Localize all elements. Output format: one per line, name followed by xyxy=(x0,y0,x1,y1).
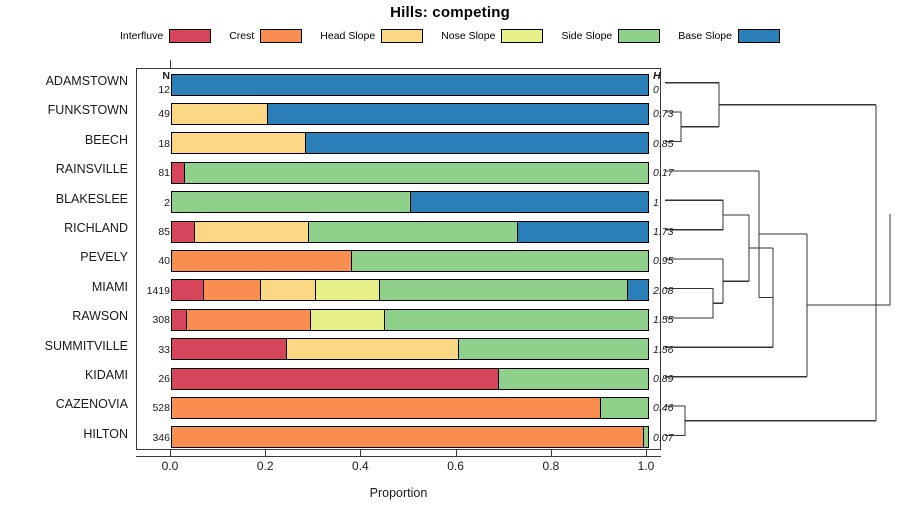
stacked-bar[interactable] xyxy=(171,221,649,243)
bar-segment[interactable] xyxy=(194,222,307,242)
x-axis-tick-label: 0.8 xyxy=(531,459,571,473)
row-n-value: 49 xyxy=(137,108,170,120)
stacked-bar[interactable] xyxy=(171,191,649,213)
bar-segment[interactable] xyxy=(410,192,648,212)
x-axis-line xyxy=(136,456,661,457)
bar-segment[interactable] xyxy=(172,427,643,447)
stacked-bar[interactable] xyxy=(171,309,649,331)
legend-label: Side Slope xyxy=(561,30,612,42)
bar-segment[interactable] xyxy=(172,104,267,124)
x-axis-tick-label: 0.2 xyxy=(245,459,285,473)
bar-segment[interactable] xyxy=(267,104,648,124)
x-axis-tick-label: 0.6 xyxy=(436,459,476,473)
legend-swatch xyxy=(169,29,211,43)
y-axis-label: BEECH xyxy=(0,133,128,147)
plot-panel: 12NH0490.73180.85810.1721851.73400.95141… xyxy=(136,68,661,450)
bar-rows: 12NH0490.73180.85810.1721851.73400.95141… xyxy=(137,69,660,449)
dendrogram-svg xyxy=(661,68,900,450)
y-axis-label: RAWSON xyxy=(0,309,128,323)
legend-swatch xyxy=(738,29,780,43)
x-axis-tick xyxy=(646,450,647,457)
bar-row: 12NH0 xyxy=(137,69,660,98)
bar-segment[interactable] xyxy=(305,133,648,153)
bar-segment[interactable] xyxy=(308,222,517,242)
bar-segment[interactable] xyxy=(310,310,384,330)
bar-segment[interactable] xyxy=(172,133,305,153)
y-axis-labels: ADAMSTOWNFUNKSTOWNBEECHRAINSVILLEBLAKESL… xyxy=(0,68,132,450)
y-axis-label: SUMMITVILLE xyxy=(0,339,128,353)
stacked-bar[interactable] xyxy=(171,132,649,154)
y-axis-label: PEVELY xyxy=(0,250,128,264)
row-n-value: 26 xyxy=(137,373,170,385)
y-axis-label: RAINSVILLE xyxy=(0,162,128,176)
row-n-value: 528 xyxy=(137,402,170,414)
bar-segment[interactable] xyxy=(172,369,498,389)
legend-label: Base Slope xyxy=(678,30,732,42)
legend: InterfluveCrestHead SlopeNose SlopeSide … xyxy=(0,26,900,46)
legend-label: Interfluve xyxy=(120,30,163,42)
stacked-bar[interactable] xyxy=(171,162,649,184)
bar-row: 260.89 xyxy=(137,363,660,392)
x-axis-tick xyxy=(360,450,361,457)
stacked-bar[interactable] xyxy=(171,74,649,96)
x-axis-title: Proportion xyxy=(136,486,661,500)
bar-segment[interactable] xyxy=(498,369,648,389)
bar-segment[interactable] xyxy=(351,251,649,271)
bar-segment[interactable] xyxy=(172,222,194,242)
legend-item: Crest xyxy=(229,29,302,43)
legend-item: Head Slope xyxy=(320,29,423,43)
row-n-value: 308 xyxy=(137,314,170,326)
y-axis-label: BLAKESLEE xyxy=(0,192,128,206)
bar-segment[interactable] xyxy=(186,310,310,330)
x-axis-tick xyxy=(170,450,171,457)
bar-segment[interactable] xyxy=(627,280,648,300)
bar-segment[interactable] xyxy=(517,222,648,242)
stacked-bar[interactable] xyxy=(171,103,649,125)
legend-item: Interfluve xyxy=(120,29,211,43)
row-n-value: 346 xyxy=(137,432,170,444)
legend-item: Nose Slope xyxy=(441,29,543,43)
bar-segment[interactable] xyxy=(286,339,457,359)
bar-segment[interactable] xyxy=(172,163,184,183)
bar-segment[interactable] xyxy=(384,310,648,330)
row-n-value: 81 xyxy=(137,167,170,179)
bar-row: 810.17 xyxy=(137,157,660,186)
legend-swatch xyxy=(618,29,660,43)
legend-item: Base Slope xyxy=(678,29,780,43)
chart-root: Hills: competing InterfluveCrestHead Slo… xyxy=(0,0,900,520)
legend-label: Crest xyxy=(229,30,254,42)
bar-row: 331.56 xyxy=(137,334,660,363)
bar-row: 3460.07 xyxy=(137,422,660,451)
stacked-bar[interactable] xyxy=(171,368,649,390)
bar-segment[interactable] xyxy=(172,280,203,300)
bar-segment[interactable] xyxy=(172,310,186,330)
y-axis-label: FUNKSTOWN xyxy=(0,103,128,117)
x-axis-tick xyxy=(265,450,266,457)
row-n-value: 33 xyxy=(137,344,170,356)
stacked-bar[interactable] xyxy=(171,426,649,448)
legend-swatch xyxy=(381,29,423,43)
bar-segment[interactable] xyxy=(203,280,260,300)
stacked-bar[interactable] xyxy=(171,250,649,272)
bar-row: 400.95 xyxy=(137,245,660,274)
chart-title: Hills: competing xyxy=(0,4,900,21)
row-n-value: 12 xyxy=(137,84,170,96)
bar-segment[interactable] xyxy=(172,192,410,212)
stacked-bar[interactable] xyxy=(171,279,649,301)
row-n-value: 85 xyxy=(137,226,170,238)
y-axis-label: CAZENOVIA xyxy=(0,397,128,411)
bar-segment[interactable] xyxy=(172,75,648,95)
bar-segment[interactable] xyxy=(643,427,648,447)
legend-swatch xyxy=(260,29,302,43)
bar-row: 180.85 xyxy=(137,128,660,157)
row-n-value: 40 xyxy=(137,255,170,267)
bar-row: 851.73 xyxy=(137,216,660,245)
stacked-bar[interactable] xyxy=(171,338,649,360)
y-axis-label: MIAMI xyxy=(0,280,128,294)
dendrogram xyxy=(661,68,900,450)
x-axis-tick xyxy=(456,450,457,457)
x-axis-tick-label: 0.4 xyxy=(340,459,380,473)
y-axis-label: KIDAMI xyxy=(0,368,128,382)
bar-row: 5280.46 xyxy=(137,392,660,421)
legend-label: Head Slope xyxy=(320,30,375,42)
bar-row: 490.73 xyxy=(137,98,660,127)
row-n-value: 18 xyxy=(137,138,170,150)
bar-row: 14192.08 xyxy=(137,275,660,304)
x-axis-tick xyxy=(551,450,552,457)
bar-segment[interactable] xyxy=(172,339,286,359)
bar-segment[interactable] xyxy=(260,280,315,300)
legend-label: Nose Slope xyxy=(441,30,495,42)
bar-segment[interactable] xyxy=(379,280,627,300)
legend-swatch xyxy=(501,29,543,43)
n-column-header: N xyxy=(137,70,170,82)
legend-item: Side Slope xyxy=(561,29,660,43)
bar-segment[interactable] xyxy=(172,398,600,418)
y-axis-label: RICHLAND xyxy=(0,221,128,235)
bar-segment[interactable] xyxy=(458,339,648,359)
x-axis: 0.00.20.40.60.81.0 xyxy=(136,450,661,464)
y-axis-label: ADAMSTOWN xyxy=(0,74,128,88)
bar-segment[interactable] xyxy=(315,280,379,300)
bar-row: 3081.55 xyxy=(137,304,660,333)
bar-segment[interactable] xyxy=(600,398,648,418)
axis-top-tick xyxy=(170,60,171,68)
bar-segment[interactable] xyxy=(184,163,648,183)
y-axis-label: HILTON xyxy=(0,427,128,441)
row-n-value: 1419 xyxy=(137,285,170,297)
stacked-bar[interactable] xyxy=(171,397,649,419)
bar-row: 21 xyxy=(137,187,660,216)
x-axis-tick-label: 1.0 xyxy=(626,459,666,473)
bar-segment[interactable] xyxy=(172,251,351,271)
row-n-value: 2 xyxy=(137,197,170,209)
x-axis-tick-label: 0.0 xyxy=(150,459,190,473)
